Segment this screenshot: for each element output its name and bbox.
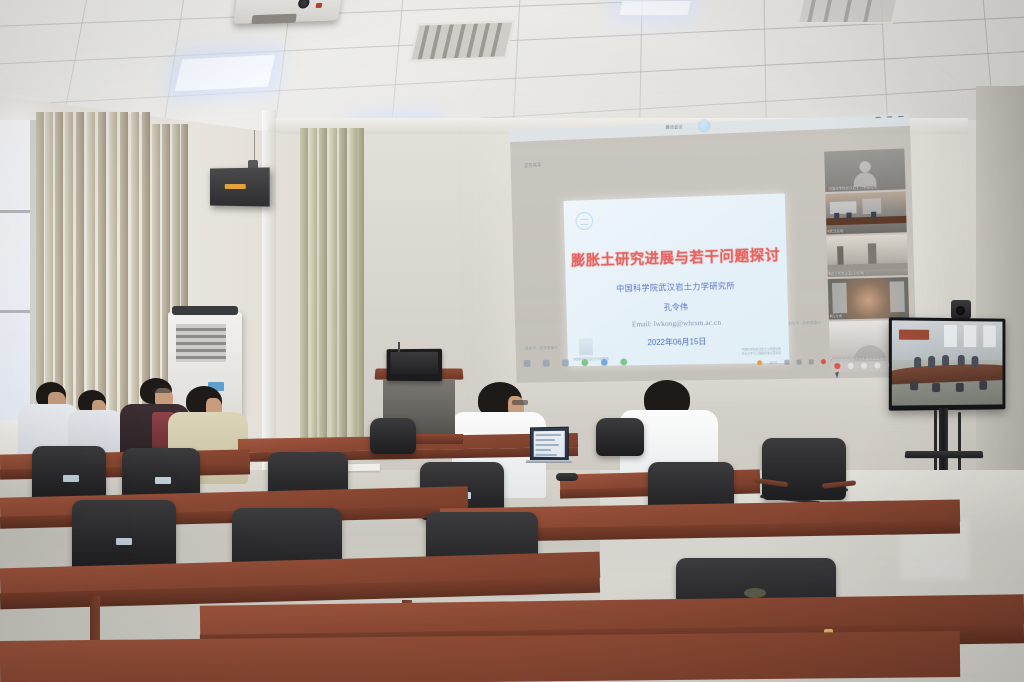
conference-room-scene: 腾讯会议 正在共享 膨胀土研究进展与若干问题探讨 中国科学院武汉岩土力学研究所 … — [0, 0, 1024, 682]
windows-taskbar[interactable] — [524, 358, 628, 367]
participant-name: 孔令伟 — [832, 313, 843, 318]
tray-temperature: 31°C — [769, 360, 777, 364]
louvered-light-fixture-1 — [409, 20, 515, 61]
conference-microphone[interactable] — [556, 473, 578, 481]
slide-logo-icon — [575, 212, 593, 230]
meeting-app-icon[interactable] — [601, 359, 608, 366]
share-screen-button[interactable] — [874, 362, 880, 368]
participant-tile[interactable]: 中国科学院武汉岩土力学研究所 — [824, 148, 905, 192]
slide-footer-logo-icon — [579, 338, 593, 355]
ceiling-light-panel-1 — [173, 54, 276, 93]
taskbar-secondary-note: 会议中 - 共享屏幕中 — [788, 321, 821, 327]
app-title: 腾讯会议 — [666, 124, 683, 131]
wechat-icon[interactable] — [581, 359, 588, 366]
taskview-icon[interactable] — [562, 359, 569, 366]
chair[interactable] — [32, 446, 106, 502]
chair[interactable] — [370, 418, 416, 454]
tv-screen-content — [892, 320, 1003, 405]
ptz-camera — [951, 300, 971, 319]
slide-email: Email: lwkong@whrsm.ac.cn — [567, 316, 789, 329]
participant-name: 武汉会场 — [829, 228, 843, 233]
laptop-ui — [534, 431, 565, 457]
louvered-light-fixture-2 — [797, 0, 899, 24]
browser-icon[interactable] — [620, 358, 627, 365]
podium-microphone — [398, 342, 400, 352]
taskbar-status-note: 会议中 - 共享屏幕中 — [525, 346, 558, 351]
window — [0, 120, 34, 420]
wall-speaker — [210, 167, 270, 206]
slide-organization: 中国科学院武汉岩土力学研究所 — [566, 278, 788, 295]
participant-tile[interactable]: 武汉会场 — [825, 191, 906, 234]
podium-monitor — [387, 349, 442, 381]
slide-author: 孔令伟 — [566, 298, 788, 315]
remote-room-banner — [899, 330, 929, 340]
projector-lens-icon — [297, 0, 310, 9]
volume-icon[interactable] — [796, 360, 801, 365]
television-display — [889, 317, 1006, 410]
chair[interactable] — [596, 418, 644, 456]
system-tray[interactable]: 31°C — [757, 359, 826, 365]
ceiling-light-panel-3 — [618, 0, 691, 16]
participant-name: 岩土所会议室(主会场) — [831, 270, 865, 276]
slide-footer-right: 中国科学院武汉岩土力学研究所 岩土力学与工程国家重点实验室 — [741, 347, 781, 356]
battery-icon[interactable] — [809, 359, 814, 364]
ac-vent-grille — [176, 324, 226, 362]
maximize-icon[interactable] — [887, 116, 892, 117]
projection-screen: 腾讯会议 正在共享 膨胀土研究进展与若干问题探讨 中国科学院武汉岩土力学研究所 … — [510, 114, 917, 383]
participant-tile[interactable]: 岩土所会议室(主会场) — [827, 234, 908, 277]
close-icon[interactable] — [898, 116, 903, 117]
camera-toggle-button[interactable] — [860, 362, 866, 368]
laptop[interactable] — [529, 427, 569, 467]
speaker-brand-badge — [225, 184, 246, 189]
chair-label — [116, 538, 132, 545]
mic-toggle-button[interactable] — [847, 362, 853, 368]
right-wall — [976, 86, 1024, 526]
leave-meeting-button[interactable] — [834, 362, 840, 368]
laptop-keyboard[interactable] — [526, 460, 572, 463]
app-body: 正在共享 膨胀土研究进展与若干问题探讨 中国科学院武汉岩土力学研究所 孔令伟 E… — [510, 126, 917, 383]
network-icon[interactable] — [784, 360, 789, 365]
ceiling-projector — [233, 0, 342, 24]
presentation-slide: 膨胀土研究进展与若干问题探讨 中国科学院武汉岩土力学研究所 孔令伟 Email:… — [564, 193, 790, 366]
projector-indicator-icon — [316, 3, 323, 8]
chair-label — [63, 475, 79, 482]
tv-stand-shelf — [905, 451, 984, 458]
search-icon[interactable] — [543, 360, 550, 367]
slide-title: 膨胀土研究进展与若干问题探讨 — [565, 244, 787, 271]
chair[interactable] — [762, 438, 846, 500]
curtain-right — [300, 128, 364, 440]
eyeglasses-icon — [512, 400, 528, 405]
minimize-icon[interactable] — [876, 117, 881, 118]
chair-brand-badge — [744, 588, 766, 598]
participant-tile[interactable]: 孔令伟 — [828, 277, 909, 319]
eyeglasses-icon — [152, 388, 171, 393]
slide-footer-right-line2: 岩土力学与工程国家重点实验室 — [742, 351, 782, 356]
ac-top-panel — [172, 306, 238, 315]
window-controls[interactable] — [876, 116, 904, 118]
notification-icon[interactable] — [821, 359, 826, 364]
start-icon[interactable] — [524, 360, 531, 367]
speaker-cable — [254, 130, 255, 162]
laptop-screen — [530, 427, 569, 463]
conference-table — [0, 631, 960, 682]
weather-icon[interactable] — [757, 360, 762, 365]
share-status-label: 正在共享 — [524, 162, 541, 169]
chair-label — [155, 477, 171, 484]
